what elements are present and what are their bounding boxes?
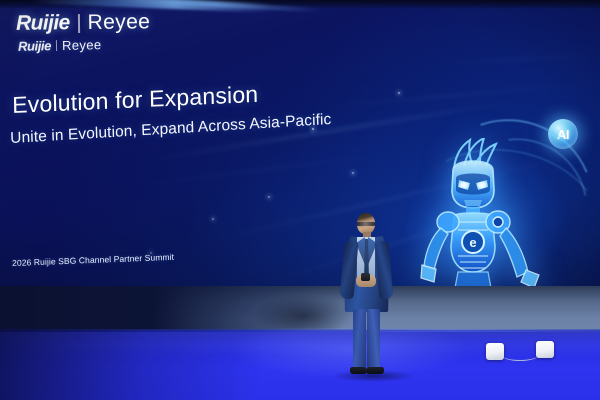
speaker-glasses: [357, 222, 375, 226]
stage-monitor-left: [486, 343, 504, 360]
speaker-legs: [352, 309, 382, 371]
presentation-clicker: [361, 273, 370, 281]
speaker-leg-left: [353, 309, 366, 371]
speaker-leg-right: [367, 309, 380, 371]
stage-monitor-right: [536, 341, 554, 358]
stage-floor-shadow-left: [0, 330, 260, 400]
monitor-cable: [502, 350, 538, 361]
screenshot-root: Ruijie Reyee Ruijie Reyee Evolution for …: [0, 0, 600, 400]
speaker-shoe-right: [366, 367, 384, 374]
keynote-speaker: [330, 213, 402, 373]
speaker-shoe-left: [350, 367, 367, 374]
